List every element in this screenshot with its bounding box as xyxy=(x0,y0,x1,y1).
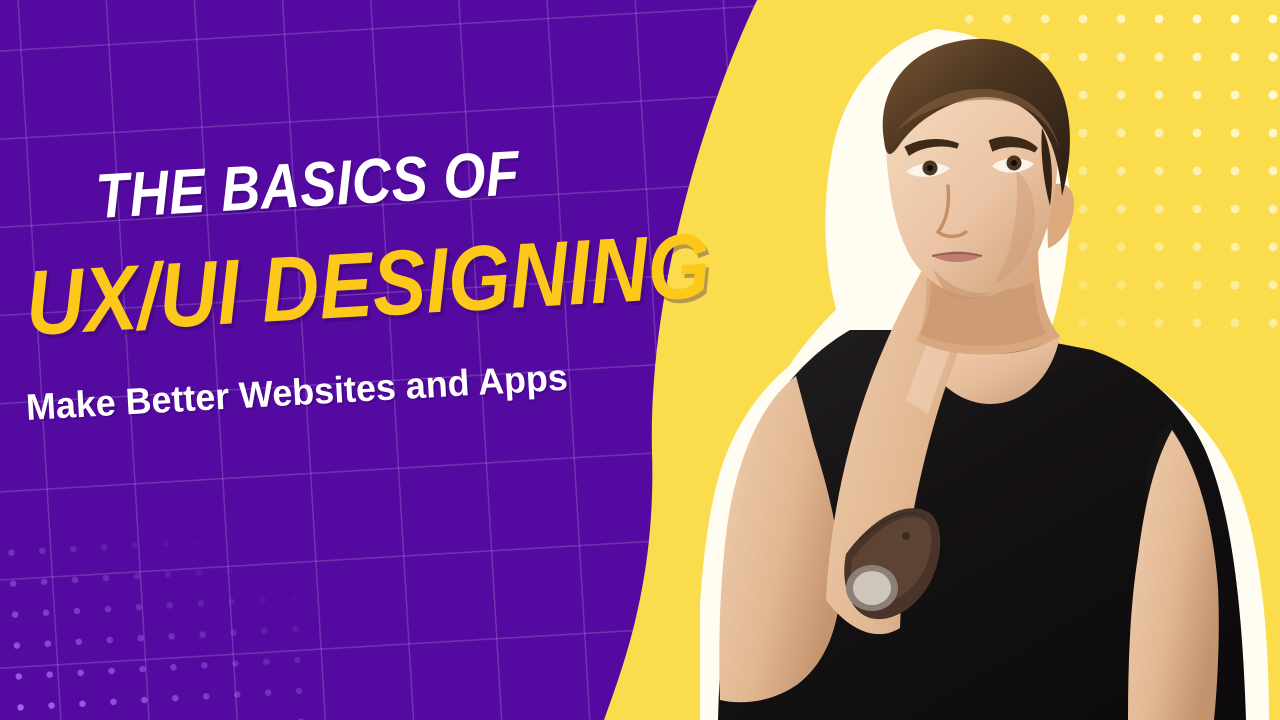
banner-canvas: THE BASICS OF UX/UI DESIGNING Make Bette… xyxy=(0,0,1280,720)
purple-background xyxy=(0,0,1280,720)
